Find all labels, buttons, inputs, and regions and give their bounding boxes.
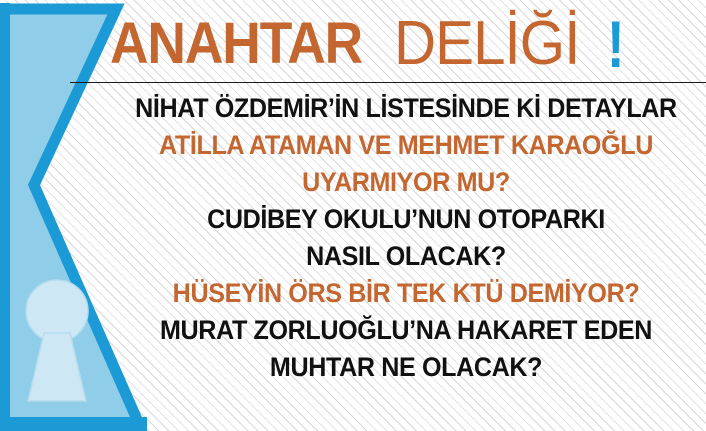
headline-list: NİHAT ÖZDEMİR’İN LİSTESİNDE Kİ DETAYLAR … <box>106 90 706 386</box>
banner-header: ANAHTAR DELİĞİ ! <box>110 6 706 82</box>
anahtar-deligi-banner: ANAHTAR DELİĞİ ! NİHAT ÖZDEMİR’İN LİSTES… <box>0 0 706 431</box>
header-title-bold: ANAHTAR <box>110 15 362 73</box>
headline-line: UYARMIYOR MU? <box>127 164 685 201</box>
exclamation-mark: ! <box>607 11 625 77</box>
headline-line: NASIL OLACAK? <box>127 238 685 275</box>
headline-line: MUHTAR NE OLACAK? <box>127 349 685 386</box>
headline-line: HÜSEYİN ÖRS BİR TEK KTÜ DEMİYOR? <box>127 275 685 312</box>
header-divider-rule <box>70 82 706 83</box>
headline-line: NİHAT ÖZDEMİR’İN LİSTESİNDE Kİ DETAYLAR <box>127 90 685 127</box>
headline-line: CUDİBEY OKULU’NUN OTOPARKI <box>127 201 685 238</box>
frame-left-edge <box>0 3 10 427</box>
frame-bottom-edge <box>0 417 147 431</box>
headline-line: MURAT ZORLUOĞLU’NA HAKARET EDEN <box>127 312 685 349</box>
header-title-light: DELİĞİ <box>394 13 579 75</box>
headline-line: ATİLLA ATAMAN VE MEHMET KARAOĞLU <box>127 127 685 164</box>
